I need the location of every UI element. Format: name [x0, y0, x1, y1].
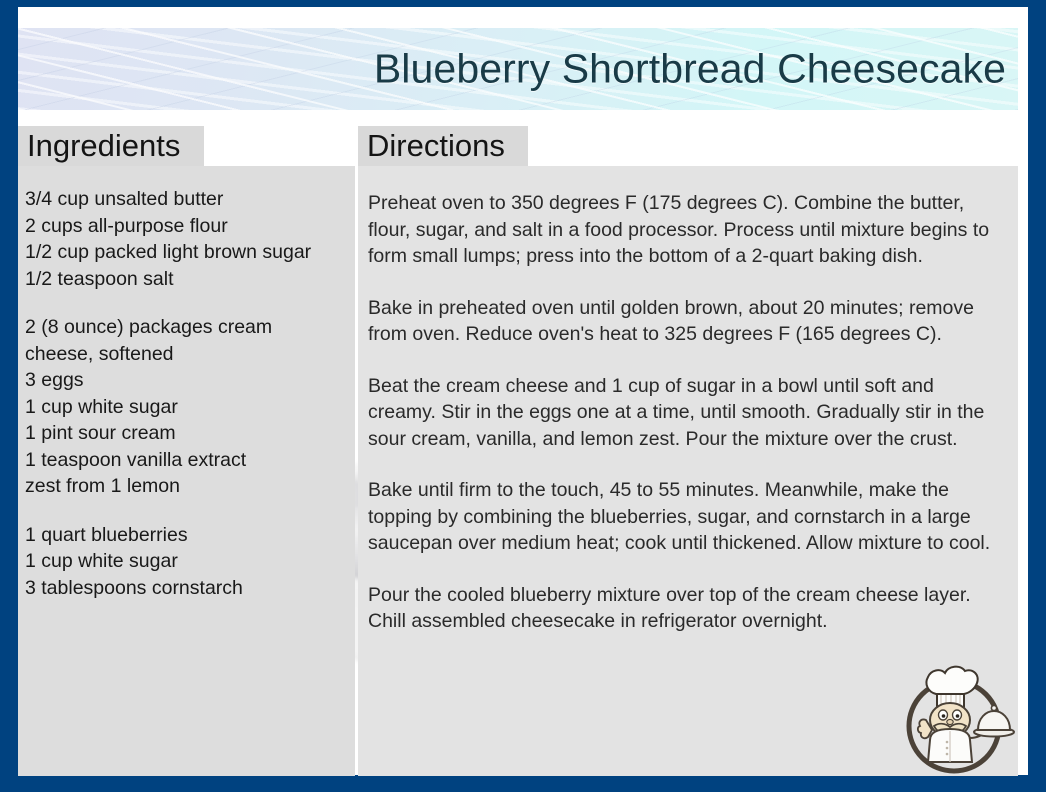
recipe-card: Blueberry Shortbread Cheesecake: [0, 0, 1046, 792]
title-banner: Blueberry Shortbread Cheesecake: [18, 28, 1018, 110]
ingredient-item: 1/2 cup packed light brown sugar: [25, 239, 349, 266]
ingredients-header: Ingredients: [18, 126, 204, 166]
ingredients-list: 3/4 cup unsalted butter 2 cups all-purpo…: [25, 186, 349, 623]
card-inner-surface: Blueberry Shortbread Cheesecake: [18, 7, 1028, 775]
ingredient-item: 1 quart blueberries: [25, 522, 349, 549]
ingredient-item: cheese, softened: [25, 341, 349, 368]
directions-heading-text: Directions: [367, 128, 505, 164]
directions-list: Preheat oven to 350 degrees F (175 degre…: [368, 190, 1006, 660]
ingredients-panel: 3/4 cup unsalted butter 2 cups all-purpo…: [18, 166, 355, 776]
ingredient-group-crust: 3/4 cup unsalted butter 2 cups all-purpo…: [25, 186, 349, 292]
direction-step: Preheat oven to 350 degrees F (175 degre…: [368, 190, 1006, 270]
ingredient-item: 2 (8 ounce) packages cream: [25, 314, 349, 341]
direction-step: Beat the cream cheese and 1 cup of sugar…: [368, 373, 1006, 453]
chef-with-cloche-logo: [890, 658, 1018, 776]
ingredient-item: 3 tablespoons cornstarch: [25, 575, 349, 602]
ingredients-heading-text: Ingredients: [27, 128, 180, 164]
direction-step: Bake until firm to the touch, 45 to 55 m…: [368, 477, 1006, 557]
ingredient-item: 1/2 teaspoon salt: [25, 266, 349, 293]
direction-step: Pour the cooled blueberry mixture over t…: [368, 582, 1006, 635]
ingredient-item: 1 pint sour cream: [25, 420, 349, 447]
ingredient-item: 2 cups all-purpose flour: [25, 213, 349, 240]
ingredient-group-filling: 2 (8 ounce) packages cream cheese, softe…: [25, 314, 349, 500]
ingredient-group-topping: 1 quart blueberries 1 cup white sugar 3 …: [25, 522, 349, 602]
ingredient-item: 1 cup white sugar: [25, 548, 349, 575]
direction-step: Bake in preheated oven until golden brow…: [368, 295, 1006, 348]
directions-header: Directions: [358, 126, 528, 166]
ingredient-item: 3 eggs: [25, 367, 349, 394]
page-title: Blueberry Shortbread Cheesecake: [374, 46, 1006, 93]
ingredient-item: zest from 1 lemon: [25, 473, 349, 500]
ingredient-item: 3/4 cup unsalted butter: [25, 186, 349, 213]
ingredient-item: 1 cup white sugar: [25, 394, 349, 421]
directions-panel: Preheat oven to 350 degrees F (175 degre…: [358, 166, 1018, 776]
ingredient-item: 1 teaspoon vanilla extract: [25, 447, 349, 474]
